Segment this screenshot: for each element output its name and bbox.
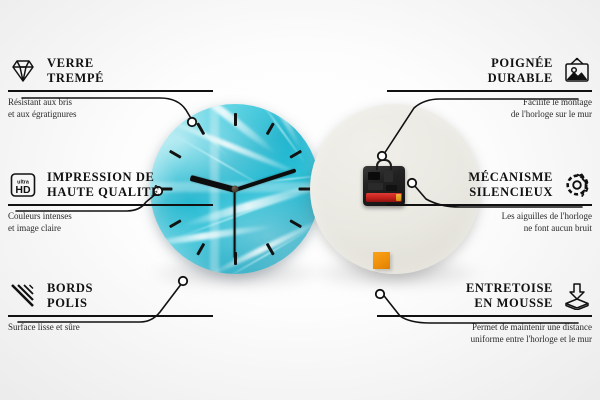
- feature-description: Résistant aux bris et aux égratignures: [8, 96, 213, 120]
- ultra-hd-icon-large-text: HD: [15, 184, 31, 196]
- feature-title: VERRE TREMPÉ: [47, 56, 104, 86]
- polished-edges-icon: [8, 281, 38, 311]
- clock-hands-hub: [232, 186, 239, 193]
- feature-divider: [387, 90, 592, 92]
- hanging-loop: [376, 159, 392, 170]
- feature-title: BORDS POLIS: [47, 281, 93, 311]
- foam-spacer-pad: [373, 252, 390, 269]
- feature-poignee-durable: POIGNÉE DURABLE Facilite le montage de l…: [387, 56, 592, 120]
- gear-icon: [562, 170, 592, 200]
- feature-header: BORDS POLIS: [8, 281, 213, 311]
- mechanism-detail-3: [368, 183, 383, 190]
- feature-divider: [377, 315, 592, 317]
- feature-entretoise-mousse: ENTRETOISE EN MOUSSE Permet de maintenir…: [377, 281, 592, 345]
- hanging-frame-icon: [562, 56, 592, 86]
- feature-title: POIGNÉE DURABLE: [488, 56, 553, 86]
- hour-tick-7: [196, 243, 205, 256]
- feature-mecanisme-silencieux: MÉCANISME SILENCIEUX Les aiguilles de l'…: [387, 170, 592, 234]
- mechanism-detail-1: [368, 172, 380, 180]
- feature-description: Facilite le montage de l'horloge sur le …: [387, 96, 592, 120]
- infographic-canvas: VERRE TREMPÉ Résistant aux bris et aux é…: [0, 0, 600, 400]
- feature-header: VERRE TREMPÉ: [8, 56, 213, 86]
- feature-header: MÉCANISME SILENCIEUX: [387, 170, 592, 200]
- feature-title: MÉCANISME SILENCIEUX: [468, 170, 553, 200]
- feature-divider: [8, 90, 213, 92]
- hour-tick-4: [289, 219, 302, 228]
- feature-title: ENTRETOISE EN MOUSSE: [466, 281, 553, 311]
- feature-verre-trempe: VERRE TREMPÉ Résistant aux bris et aux é…: [8, 56, 213, 120]
- feature-divider: [8, 315, 213, 317]
- foam-spacer-icon: [562, 281, 592, 311]
- feature-header: POIGNÉE DURABLE: [387, 56, 592, 86]
- feature-title: IMPRESSION DE HAUTE QUALITÉ: [47, 170, 160, 200]
- feature-header: ultra HD IMPRESSION DE HAUTE QUALITÉ: [8, 170, 213, 200]
- feature-bords-polis: BORDS POLIS Surface lisse et sûre: [8, 281, 213, 333]
- feature-divider: [387, 204, 592, 206]
- feature-description: Surface lisse et sûre: [8, 321, 213, 333]
- hour-tick-10: [169, 150, 182, 159]
- second-hand: [234, 190, 236, 258]
- hour-tick-12: [234, 113, 237, 126]
- feature-impression-haute-qualite: ultra HD IMPRESSION DE HAUTE QUALITÉ Cou…: [8, 170, 213, 234]
- feature-header: ENTRETOISE EN MOUSSE: [377, 281, 592, 311]
- hour-tick-1: [266, 122, 275, 135]
- feature-description: Couleurs intenses et image claire: [8, 210, 213, 234]
- feather-plume-5: [247, 104, 304, 151]
- feature-description: Les aiguilles de l'horloge ne font aucun…: [387, 210, 592, 234]
- feature-divider: [8, 204, 213, 206]
- feature-description: Permet de maintenir une distance uniform…: [377, 321, 592, 345]
- ultra-hd-icon: ultra HD: [8, 170, 38, 200]
- diamond-icon: [8, 56, 38, 86]
